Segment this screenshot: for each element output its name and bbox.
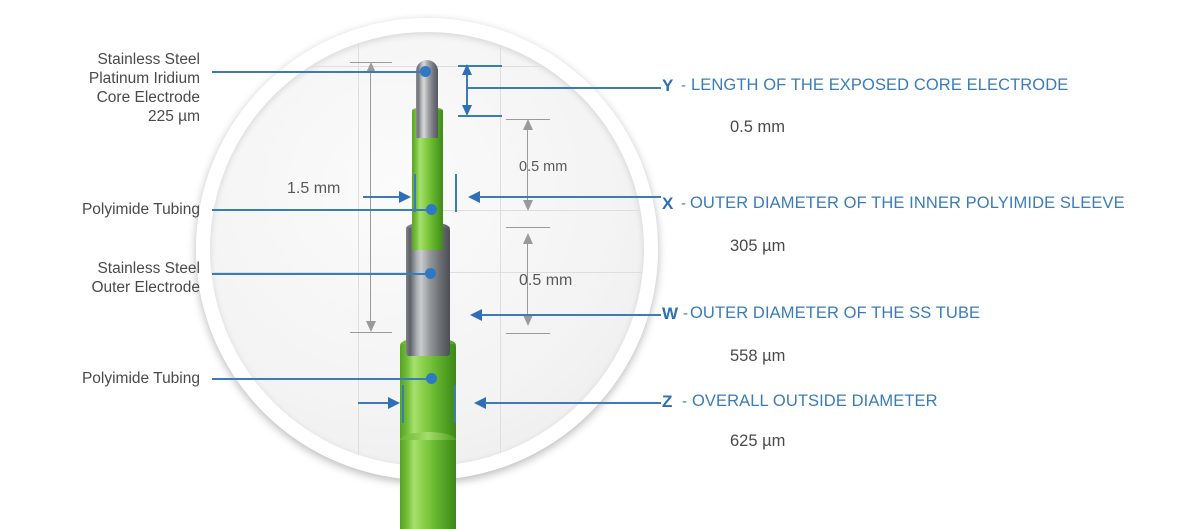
dim-arrow-up <box>523 119 533 130</box>
label-line: Polyimide Tubing <box>0 369 200 388</box>
x-arrow-shaft-left <box>363 196 401 198</box>
circle-inset-field <box>210 32 644 466</box>
label-polyimide-tubing-inner: Polyimide Tubing <box>0 200 200 219</box>
z-arrow-shaft-left <box>358 402 390 404</box>
callout-value-y: 0.5 mm <box>730 118 785 137</box>
callout-value-z: 625 µm <box>730 432 785 451</box>
leader-dot-polyimide-outer <box>426 373 437 384</box>
z-arrow-left <box>388 397 400 409</box>
callout-dash-w: - <box>683 305 688 322</box>
x-tick-left <box>414 174 416 212</box>
z-tick-right <box>454 385 456 423</box>
leader-line-outer-electrode <box>212 273 430 275</box>
dim-arrow-down <box>523 315 533 326</box>
callout-text-y: LENGTH OF THE EXPOSED CORE ELECTRODE <box>691 76 1068 95</box>
dim-arrow-up <box>523 233 533 244</box>
dim-tick-bottom <box>350 332 392 333</box>
leader-dot-polyimide-inner <box>426 204 437 215</box>
label-line: Outer Electrode <box>0 278 200 297</box>
guide-line <box>358 32 359 466</box>
callout-key-x: X <box>662 194 673 214</box>
callout-value-w: 558 µm <box>730 347 785 366</box>
y-arrow-up <box>462 64 472 75</box>
w-callout-leader <box>481 314 661 316</box>
x-tick-right <box>455 174 457 212</box>
label-polyimide-tubing-outer: Polyimide Tubing <box>0 369 200 388</box>
z-callout-leader <box>485 402 661 404</box>
label-core-electrode: Stainless Steel Platinum Iridium Core El… <box>0 50 200 126</box>
callout-value-x: 305 µm <box>730 237 785 256</box>
diagram-canvas: 1.5 mm 0.5 mm 0.5 mm Stainless Steel Pla… <box>0 0 1200 529</box>
dim-arrow-down <box>523 200 533 211</box>
leader-line-polyimide-outer <box>212 378 430 380</box>
device-clip-region <box>210 32 644 466</box>
label-outer-electrode: Stainless Steel Outer Electrode <box>0 259 200 297</box>
callout-dash-x: - <box>681 195 686 212</box>
callout-dash-y: - <box>681 77 686 94</box>
y-callout-leader <box>466 87 661 89</box>
outer-tubing-continuation <box>400 440 456 529</box>
callout-key-z: Z <box>662 392 672 412</box>
leader-dot-outer-electrode <box>425 268 436 279</box>
leader-dot-core-electrode <box>420 66 431 77</box>
leader-line-core-electrode <box>212 71 425 73</box>
label-line: Core Electrode <box>0 88 200 107</box>
label-line: Stainless Steel <box>0 50 200 69</box>
callout-text-w: OUTER DIAMETER OF THE SS TUBE <box>690 304 980 323</box>
callout-key-w: W <box>662 304 678 324</box>
label-line: 225 µm <box>0 107 200 126</box>
callout-text-z: OVERALL OUTSIDE DIAMETER <box>692 392 938 411</box>
y-tick-bottom <box>458 115 502 117</box>
label-line: Polyimide Tubing <box>0 200 200 219</box>
dim-arrow-down <box>366 321 376 332</box>
dim-label-ss-tube: 0.5 mm <box>519 272 572 290</box>
dim-label-inner-sleeve: 0.5 mm <box>519 159 567 175</box>
dim-label-overall: 1.5 mm <box>287 180 340 198</box>
x-arrow-left <box>399 191 411 203</box>
guide-line <box>500 32 501 466</box>
dim-tick-bottom <box>506 227 550 228</box>
callout-key-y: Y <box>662 76 673 96</box>
callout-text-x: OUTER DIAMETER OF THE INNER POLYIMIDE SL… <box>690 194 1125 213</box>
x-callout-leader <box>479 196 661 198</box>
leader-line-polyimide-inner <box>212 209 430 211</box>
callout-dash-z: - <box>682 393 687 410</box>
z-tick-left <box>402 385 404 423</box>
label-line: Stainless Steel <box>0 259 200 278</box>
dim-tick-bottom <box>506 333 550 334</box>
label-line: Platinum Iridium <box>0 69 200 88</box>
